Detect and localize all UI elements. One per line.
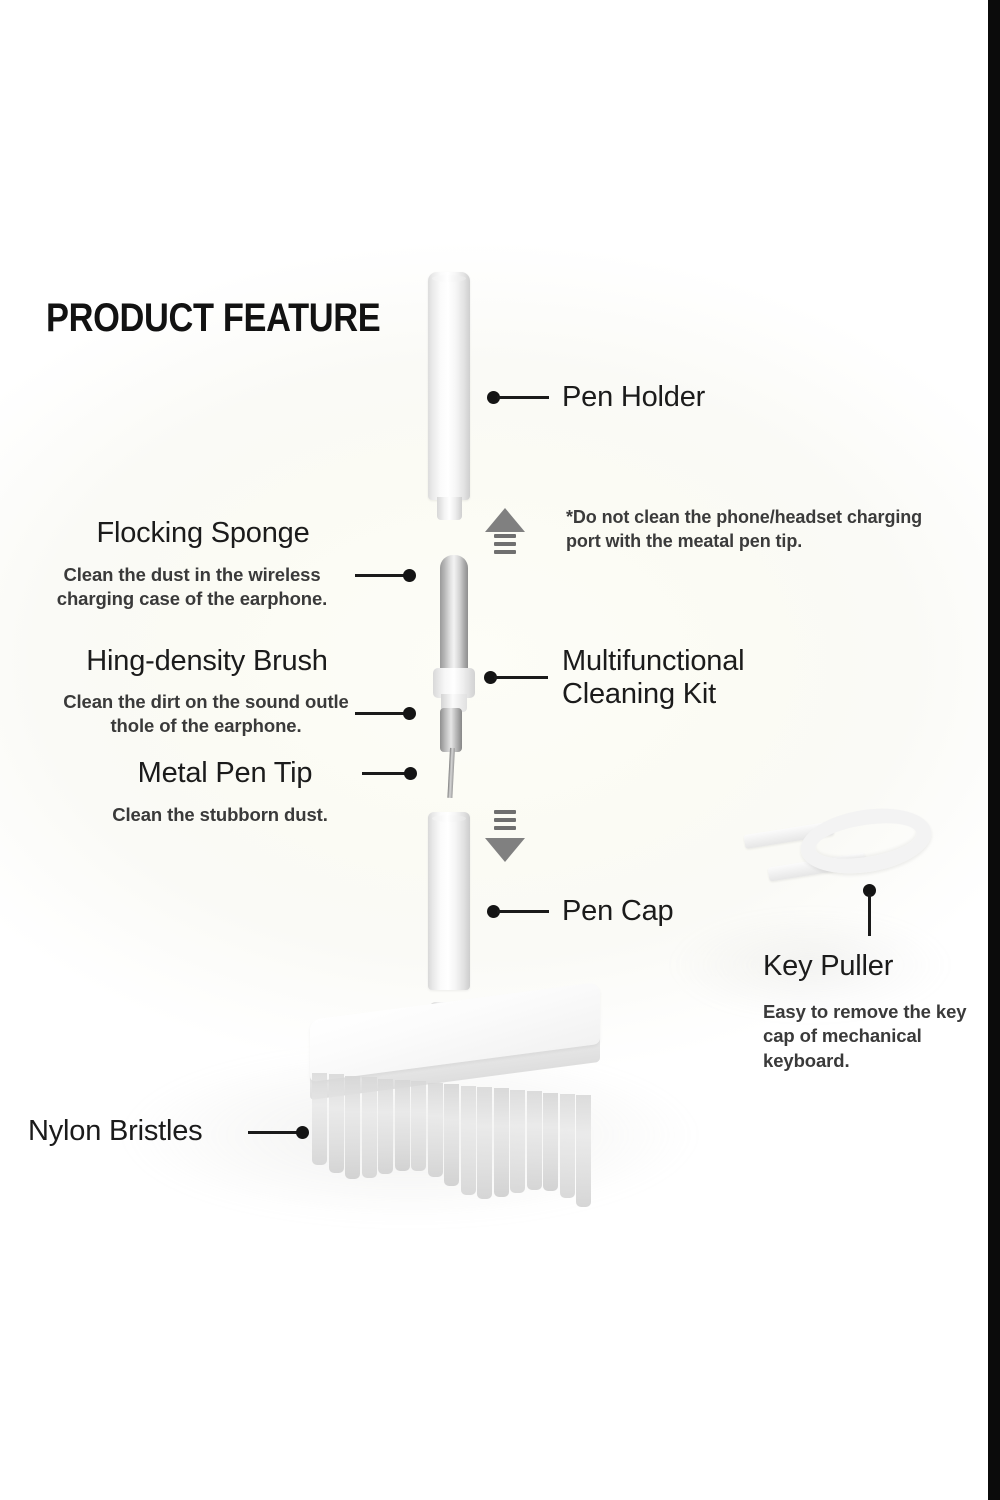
- arrow-bar: [494, 826, 516, 830]
- bristle-strand: [329, 1074, 344, 1173]
- arrow-bar: [494, 818, 516, 822]
- arrow-bar: [494, 534, 516, 538]
- feature-label-high-density-brush: Hing-density Brush: [62, 645, 352, 678]
- feature-desc-flocking-sponge: Clean the dust in the wireless charging …: [38, 563, 346, 612]
- right-edge-bar: [988, 0, 1000, 1500]
- photo-background: [0, 0, 988, 1500]
- multifunctional-kit-leader-line: [494, 676, 548, 679]
- feature-label-pen-holder: Pen Holder: [562, 381, 705, 414]
- arrow-up-triangle: [485, 508, 525, 532]
- high-density-brush-illustration: [440, 708, 462, 752]
- key-puller-leader-line: [868, 894, 871, 936]
- high-density-brush-leader-line: [355, 712, 407, 715]
- pen-cap-illustration: [428, 812, 470, 990]
- bristle-strand: [527, 1091, 542, 1190]
- bristle-strand: [560, 1094, 575, 1198]
- feature-desc-high-density-brush: Clean the dirt on the sound outle thole …: [56, 690, 356, 739]
- high-density-brush-leader-dot: [403, 707, 416, 720]
- pen-holder-illustration: [428, 272, 470, 500]
- metal-pen-tip-leader-dot: [404, 767, 417, 780]
- feature-label-metal-pen-tip: Metal Pen Tip: [100, 757, 350, 790]
- pen-cap-leader-line: [497, 910, 549, 913]
- flocking-sponge-leader-line: [355, 574, 407, 577]
- warning-note: *Do not clean the phone/headset charging…: [566, 505, 946, 554]
- feature-label-key-puller: Key Puller: [763, 950, 893, 983]
- arrow-up-icon: [485, 508, 525, 562]
- nylon-bristles-leader-line: [248, 1131, 300, 1134]
- arrow-down-triangle: [485, 838, 525, 862]
- feature-label-multifunctional-kit: Multifunctional Cleaning Kit: [562, 645, 822, 712]
- feature-label-pen-cap: Pen Cap: [562, 895, 673, 928]
- bristle-strand: [378, 1079, 393, 1174]
- pen-holder-leader-line: [497, 396, 549, 399]
- bristle-strand: [428, 1083, 443, 1177]
- bristle-strand: [312, 1073, 327, 1165]
- flocking-sponge-illustration: [440, 555, 468, 673]
- flocking-sponge-leader-dot: [403, 569, 416, 582]
- arrow-down-icon: [485, 808, 525, 862]
- nylon-bristles-leader-dot: [296, 1126, 309, 1139]
- bristle-strand: [494, 1088, 509, 1197]
- arrow-down-tail: [494, 810, 516, 834]
- bristle-strand: [395, 1080, 410, 1171]
- bristle-strand: [362, 1077, 377, 1178]
- feature-label-flocking-sponge: Flocking Sponge: [58, 517, 348, 550]
- key-puller-illustration: [742, 806, 942, 902]
- bristle-strand: [444, 1084, 459, 1186]
- arrow-bar: [494, 810, 516, 814]
- bristle-strand: [576, 1095, 591, 1207]
- nylon-bristles-illustration: [312, 1073, 600, 1213]
- bristle-strand: [477, 1087, 492, 1199]
- bristle-strand: [411, 1081, 426, 1171]
- feature-desc-metal-pen-tip: Clean the stubborn dust.: [90, 803, 350, 827]
- arrow-bar: [494, 550, 516, 554]
- feature-desc-key-puller: Easy to remove the key cap of mechanical…: [763, 1000, 981, 1073]
- pen-holder-neck: [437, 497, 462, 520]
- bristle-strand: [345, 1076, 360, 1179]
- page-title: PRODUCT FEATURE: [46, 296, 380, 341]
- feature-label-nylon-bristles: Nylon Bristles: [28, 1115, 202, 1148]
- arrow-up-tail: [494, 534, 516, 558]
- bristle-strand: [510, 1090, 525, 1193]
- product-feature-infographic: PRODUCT FEATURE: [0, 0, 1000, 1500]
- bristle-strand: [461, 1086, 476, 1195]
- arrow-bar: [494, 542, 516, 546]
- bristle-strand: [543, 1093, 558, 1191]
- metal-pen-tip-leader-line: [362, 772, 408, 775]
